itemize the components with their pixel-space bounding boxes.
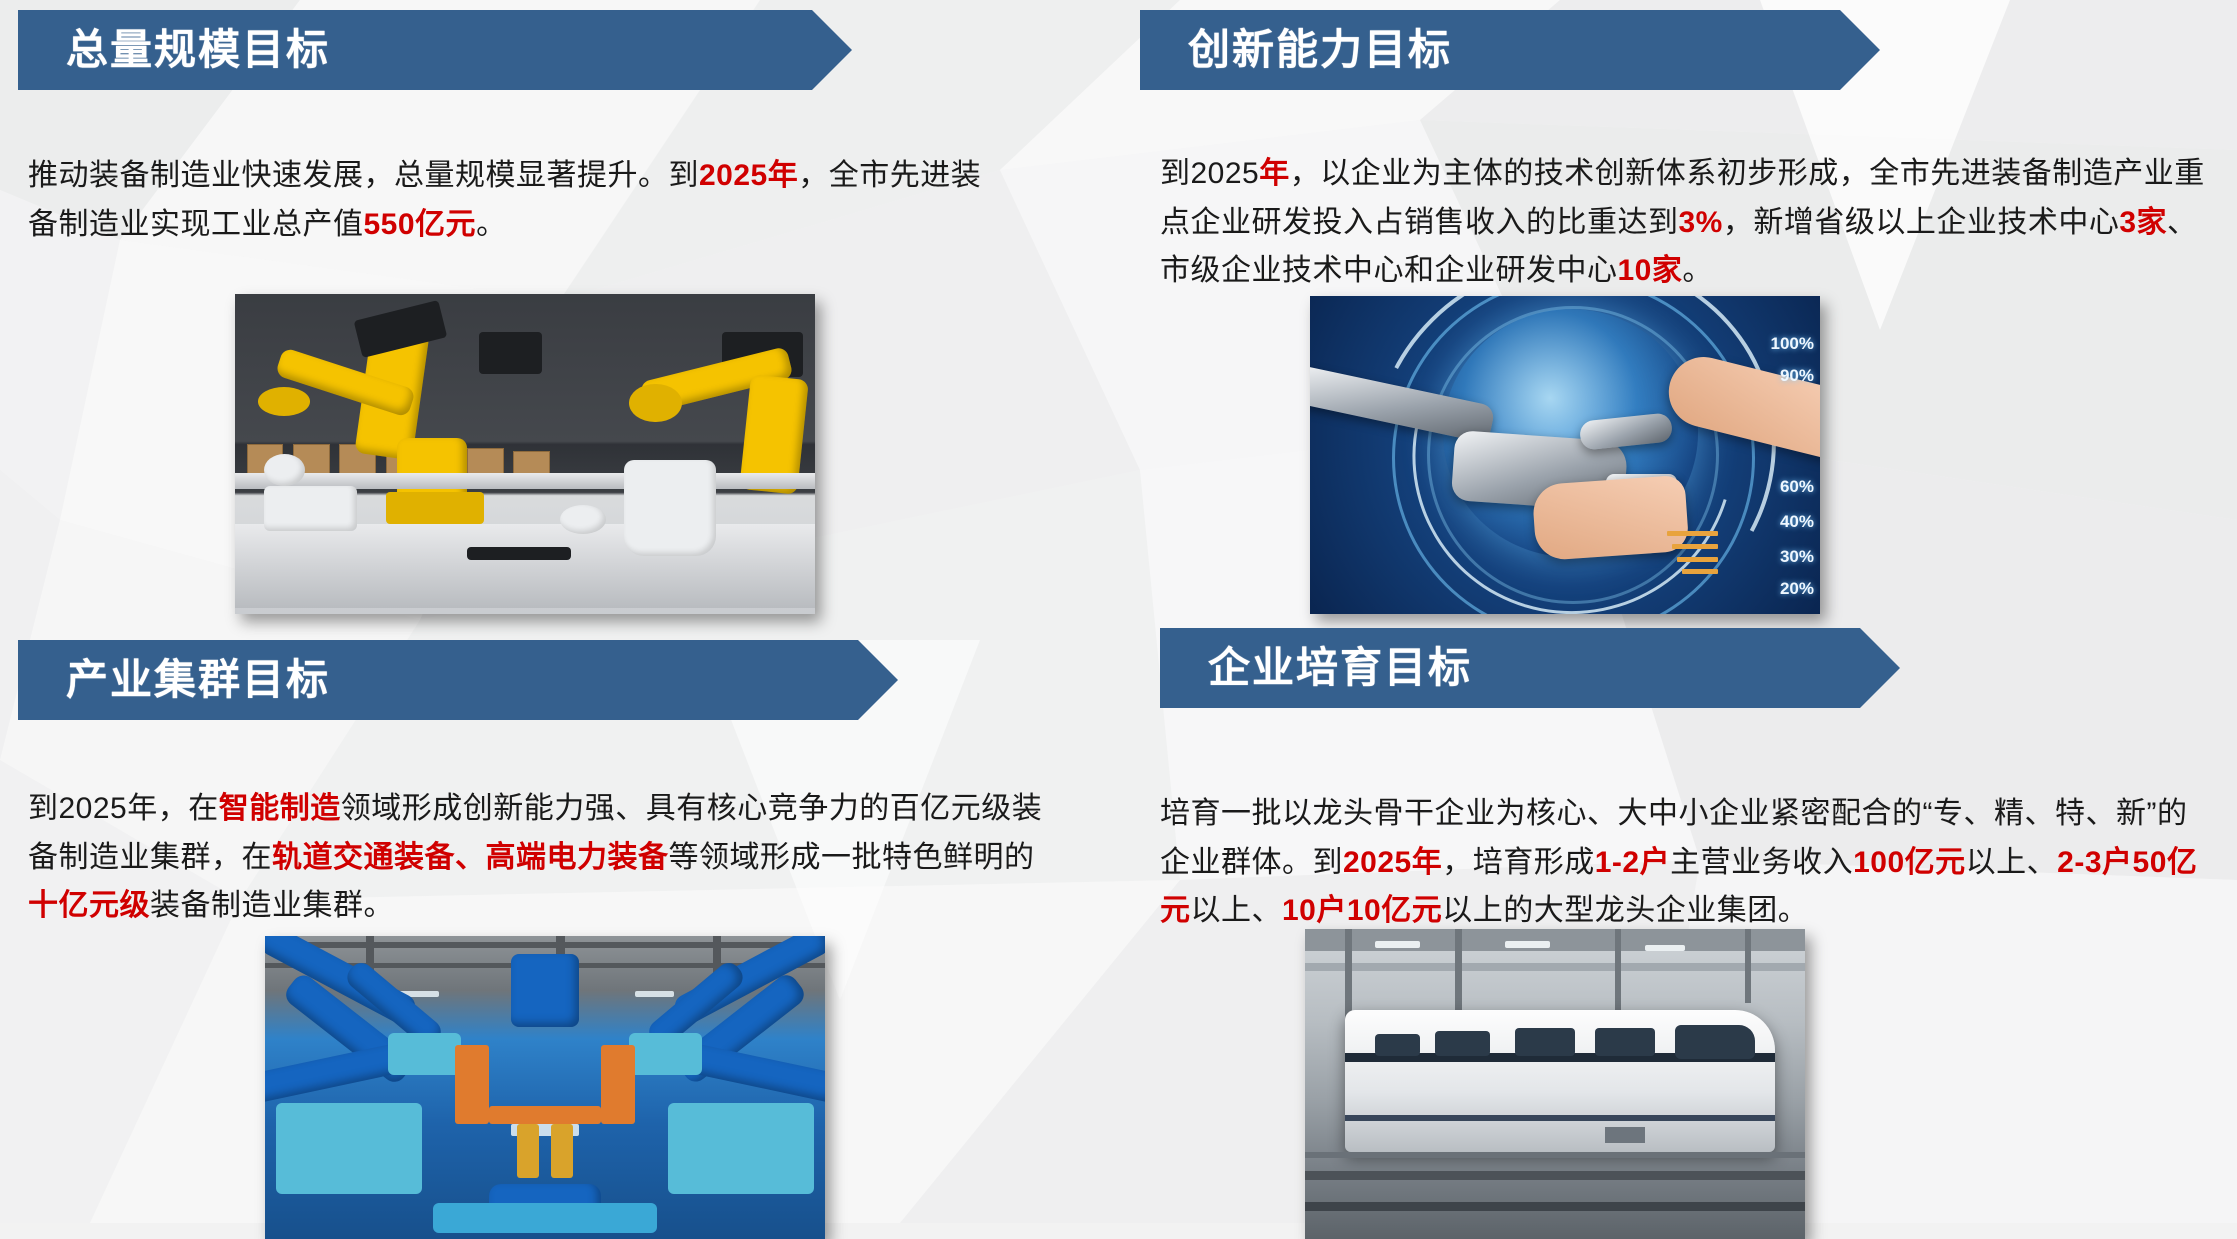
panel-enterprise-cultivation-goal [1118,620,2237,1223]
panel-total-scale-goal [0,0,1118,620]
panel-industry-cluster-goal [0,620,1118,1223]
panel-innovation-capability-goal [1118,0,2237,620]
